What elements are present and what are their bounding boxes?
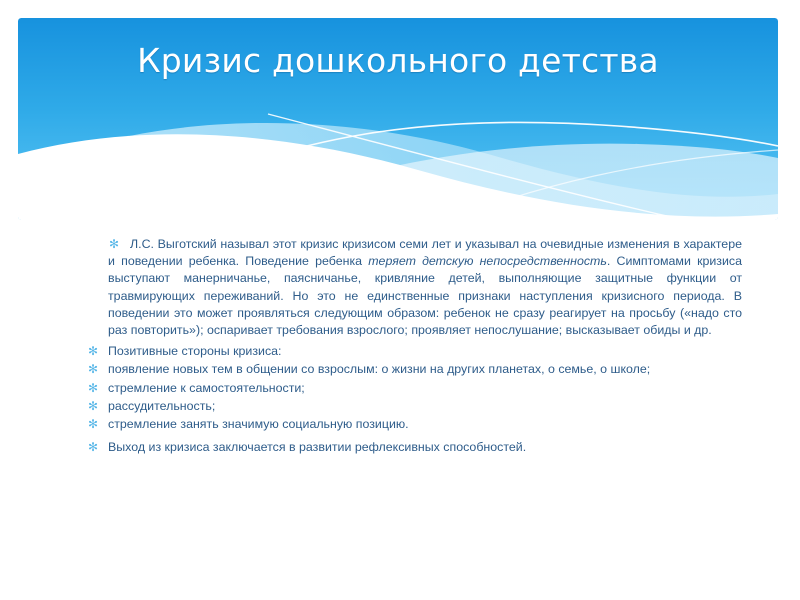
asterisk-bullet-icon: ✻: [87, 439, 99, 456]
text-run: Выход из кризиса заключается в развитии …: [108, 440, 526, 454]
asterisk-bullet-icon: ✻: [87, 343, 99, 360]
list-item-text: появление новых тем в общении со взрослы…: [108, 361, 742, 378]
asterisk-bullet-icon: ✻: [87, 380, 99, 397]
text-run: рассудительность;: [108, 399, 215, 413]
slide-title: Кризис дошкольного детства: [18, 40, 778, 82]
list-item: ✻стремление к самостоятельности;: [84, 380, 742, 397]
list-item: ✻Позитивные стороны кризиса:: [84, 343, 742, 360]
list-item-text: стремление к самостоятельности;: [108, 380, 742, 397]
list-item-text: Позитивные стороны кризиса:: [108, 343, 742, 360]
list-item-text: стремление занять значимую социальную по…: [108, 416, 742, 433]
emphasis-text: теряет детскую непосредственность: [368, 254, 607, 268]
list-item-text: Л.С. Выготский называл этот кризис кризи…: [108, 236, 742, 339]
list-item-text: Выход из кризиса заключается в развитии …: [108, 439, 742, 456]
list-item: ✻появление новых тем в общении со взросл…: [84, 361, 742, 378]
list-item-text: рассудительность;: [108, 398, 742, 415]
slide-canvas: Кризис дошкольного детства ✻Л.С. Выготск…: [0, 0, 800, 600]
list-item: ✻рассудительность;: [84, 398, 742, 415]
asterisk-bullet-icon: ✻: [87, 236, 99, 253]
slide-body: ✻Л.С. Выготский называл этот кризис криз…: [84, 236, 742, 457]
list-item: ✻Л.С. Выготский называл этот кризис криз…: [84, 236, 742, 339]
text-run: появление новых тем в общении со взрослы…: [108, 362, 650, 376]
asterisk-bullet-icon: ✻: [87, 416, 99, 433]
text-run: стремление занять значимую социальную по…: [108, 417, 409, 431]
list-item: ✻стремление занять значимую социальную п…: [84, 416, 742, 433]
asterisk-bullet-icon: ✻: [87, 361, 99, 378]
list-item: ✻Выход из кризиса заключается в развитии…: [84, 439, 742, 456]
asterisk-bullet-icon: ✻: [87, 398, 99, 415]
text-run: Позитивные стороны кризиса:: [108, 344, 281, 358]
text-run: стремление к самостоятельности;: [108, 381, 305, 395]
